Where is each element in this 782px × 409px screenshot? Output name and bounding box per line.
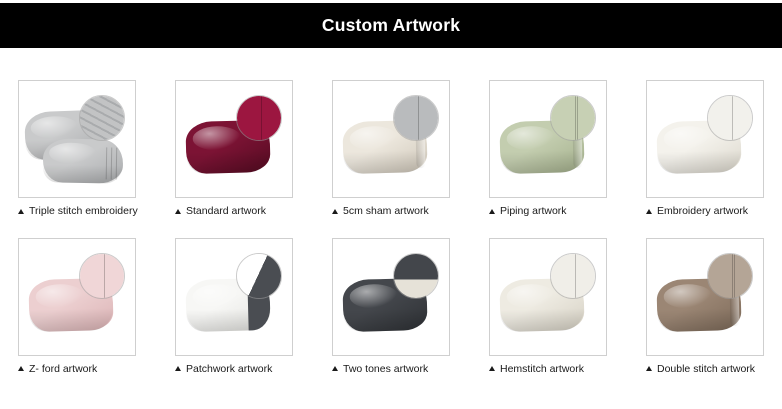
triangle-up-icon — [18, 209, 24, 214]
artwork-card[interactable] — [18, 80, 136, 198]
artwork-caption: Piping artwork — [489, 206, 607, 217]
pillow-image — [333, 81, 449, 197]
artwork-label: Double stitch artwork — [657, 364, 755, 375]
artwork-label: 5cm sham artwork — [343, 206, 429, 217]
triangle-up-icon — [646, 209, 652, 214]
artwork-label: Two tones artwork — [343, 364, 428, 375]
artwork-cell[interactable]: Embroidery artwork — [646, 80, 764, 217]
artwork-card[interactable] — [332, 80, 450, 198]
artwork-card[interactable] — [489, 238, 607, 356]
triangle-up-icon — [175, 366, 181, 371]
detail-loupe — [79, 95, 125, 141]
detail-loupe — [550, 95, 596, 141]
artwork-cell[interactable]: 5cm sham artwork — [332, 80, 450, 217]
detail-loupe — [236, 95, 282, 141]
artwork-label: Hemstitch artwork — [500, 364, 584, 375]
artwork-grid-row: Z- ford artworkPatchwork artworkTwo tone… — [18, 238, 766, 375]
triangle-up-icon — [18, 366, 24, 371]
detail-loupe — [707, 95, 753, 141]
pillow-image — [333, 239, 449, 355]
artwork-label: Patchwork artwork — [186, 364, 272, 375]
pillow-image — [490, 81, 606, 197]
artwork-caption: Double stitch artwork — [646, 364, 764, 375]
artwork-card[interactable] — [332, 238, 450, 356]
artwork-card[interactable] — [175, 80, 293, 198]
artwork-cell[interactable]: Standard artwork — [175, 80, 293, 217]
artwork-caption: Hemstitch artwork — [489, 364, 607, 375]
pillow-image — [490, 239, 606, 355]
artwork-label: Piping artwork — [500, 206, 567, 217]
detail-loupe — [236, 253, 282, 299]
pleat-lines — [97, 145, 120, 183]
pillow-image — [19, 239, 135, 355]
artwork-card[interactable] — [646, 238, 764, 356]
artwork-cell[interactable]: Patchwork artwork — [175, 238, 293, 375]
custom-artwork-page: Custom Artwork Triple stitch embroideryS… — [0, 0, 782, 409]
triangle-up-icon — [332, 366, 338, 371]
artwork-cell[interactable]: Double stitch artwork — [646, 238, 764, 375]
artwork-caption: Patchwork artwork — [175, 364, 293, 375]
artwork-card[interactable] — [18, 238, 136, 356]
triangle-up-icon — [175, 209, 181, 214]
artwork-caption: 5cm sham artwork — [332, 206, 450, 217]
artwork-cell[interactable]: Hemstitch artwork — [489, 238, 607, 375]
artwork-cell[interactable]: Piping artwork — [489, 80, 607, 217]
pillow-image — [647, 81, 763, 197]
artwork-label: Z- ford artwork — [29, 364, 97, 375]
pillow-image — [647, 239, 763, 355]
detail-loupe — [707, 253, 753, 299]
triangle-up-icon — [489, 366, 495, 371]
artwork-card[interactable] — [646, 80, 764, 198]
artwork-label: Embroidery artwork — [657, 206, 748, 217]
artwork-label: Standard artwork — [186, 206, 266, 217]
artwork-caption: Z- ford artwork — [18, 364, 136, 375]
artwork-caption: Standard artwork — [175, 206, 293, 217]
pillow-image — [176, 239, 292, 355]
triangle-up-icon — [332, 209, 338, 214]
artwork-card[interactable] — [489, 80, 607, 198]
detail-loupe — [79, 253, 125, 299]
artwork-caption: Two tones artwork — [332, 364, 450, 375]
triangle-up-icon — [646, 366, 652, 371]
artwork-caption: Triple stitch embroidery — [18, 206, 136, 217]
pillow-image — [19, 81, 135, 197]
page-header: Custom Artwork — [0, 3, 782, 48]
page-title: Custom Artwork — [322, 17, 460, 35]
triangle-up-icon — [489, 209, 495, 214]
artwork-label: Triple stitch embroidery — [29, 206, 138, 217]
pillow-front — [43, 138, 124, 183]
artwork-grid-row: Triple stitch embroideryStandard artwork… — [18, 80, 766, 217]
artwork-cell[interactable]: Z- ford artwork — [18, 238, 136, 375]
artwork-cell[interactable]: Triple stitch embroidery — [18, 80, 136, 217]
detail-loupe — [393, 95, 439, 141]
artwork-cell[interactable]: Two tones artwork — [332, 238, 450, 375]
detail-loupe — [393, 253, 439, 299]
artwork-card[interactable] — [175, 238, 293, 356]
artwork-grid: Triple stitch embroideryStandard artwork… — [18, 80, 766, 374]
pillow-image — [176, 81, 292, 197]
artwork-caption: Embroidery artwork — [646, 206, 764, 217]
detail-loupe — [550, 253, 596, 299]
